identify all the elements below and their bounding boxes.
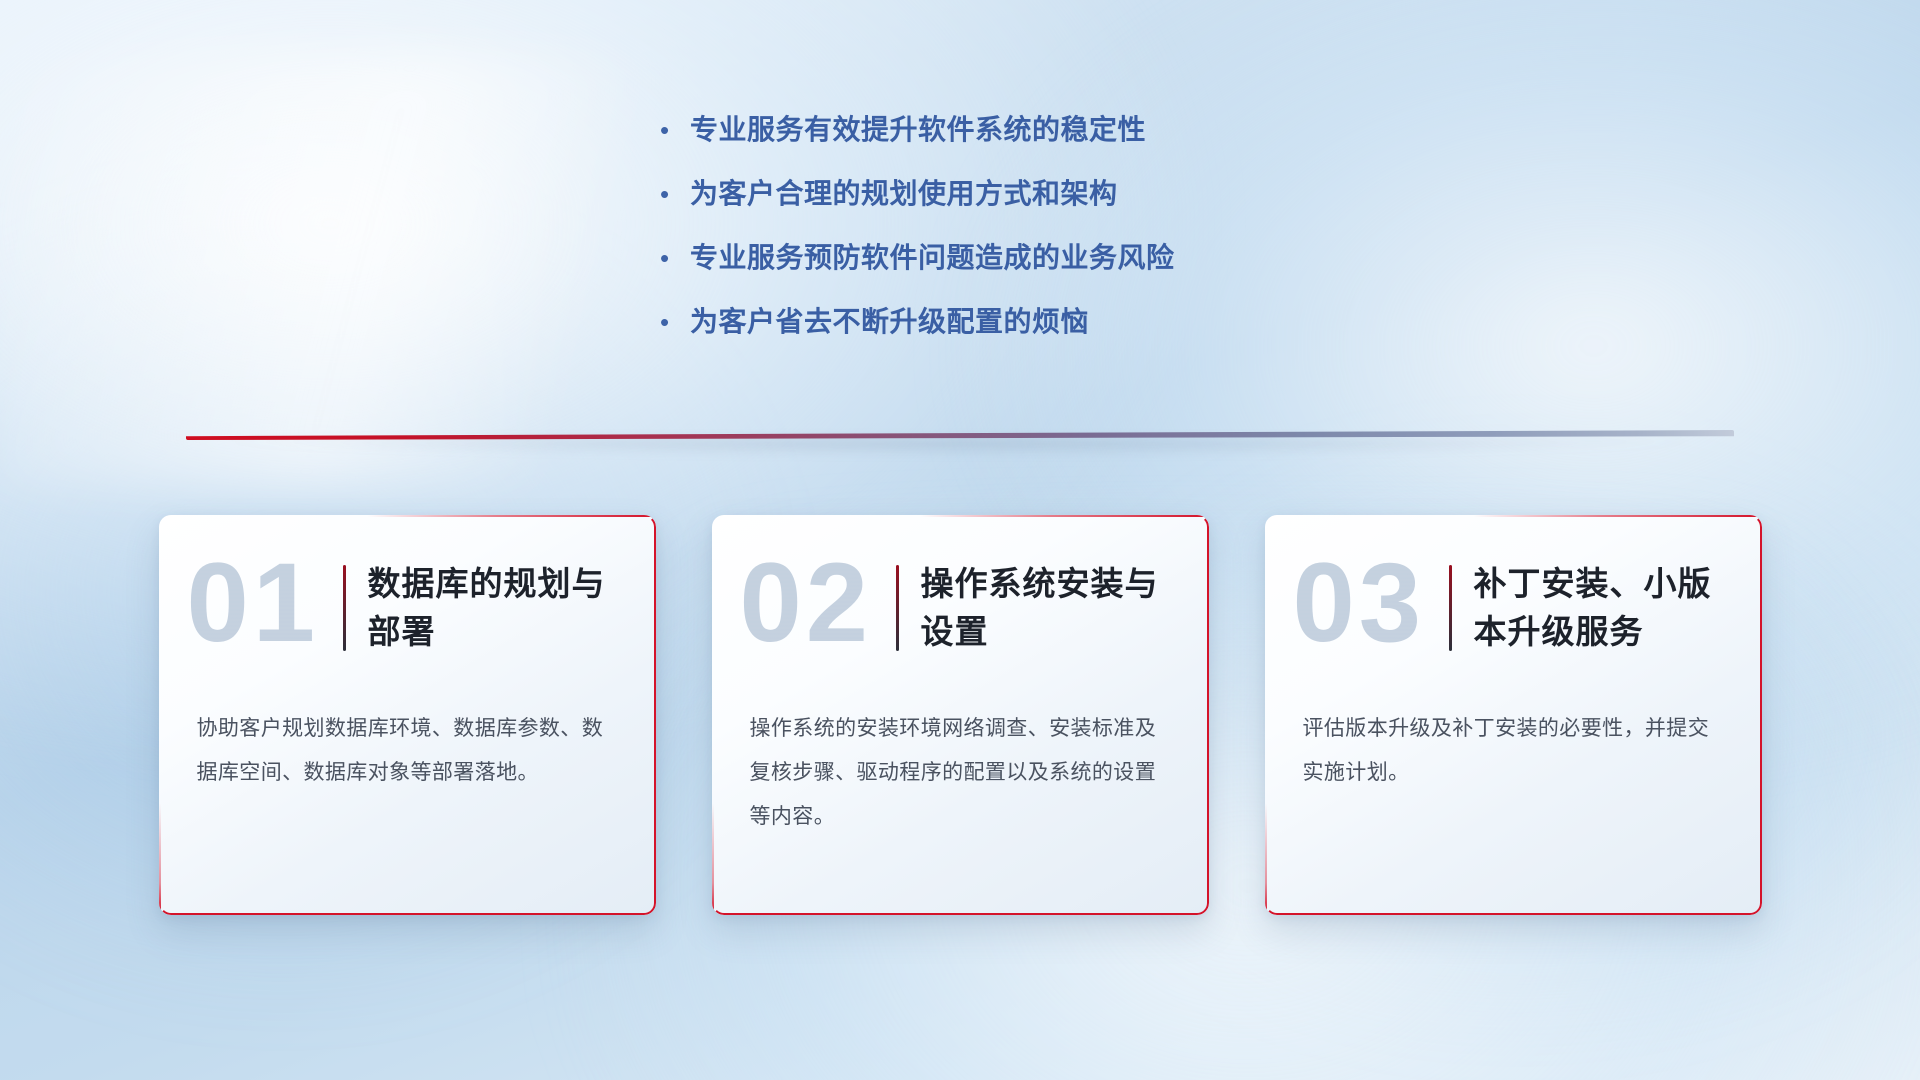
section-divider	[186, 430, 1734, 440]
card-description: 协助客户规划数据库环境、数据库参数、数据库空间、数据库对象等部署落地。	[159, 701, 656, 795]
bullet-text: 为客户省去不断升级配置的烦恼	[690, 302, 1089, 342]
card-description: 评估版本升级及补丁安装的必要性，并提交实施计划。	[1265, 701, 1762, 795]
benefits-bullet-list: • 专业服务有效提升软件系统的稳定性 • 为客户合理的规划使用方式和架构 • 专…	[660, 110, 1420, 366]
bullet-text: 为客户合理的规划使用方式和架构	[690, 174, 1118, 214]
card-header: 01 数据库的规划与部署	[159, 515, 656, 701]
card-title: 数据库的规划与部署	[368, 560, 626, 656]
service-card[interactable]: 01 数据库的规划与部署 协助客户规划数据库环境、数据库参数、数据库空间、数据库…	[159, 515, 656, 915]
service-card[interactable]: 03 补丁安装、小版本升级服务 评估版本升级及补丁安装的必要性，并提交实施计划。	[1265, 515, 1762, 915]
bullet-dot-icon: •	[660, 174, 690, 214]
title-divider-bar	[343, 565, 346, 651]
card-title-group: 数据库的规划与部署	[343, 560, 626, 656]
bullet-dot-icon: •	[660, 302, 690, 342]
card-title-group: 补丁安装、小版本升级服务	[1449, 560, 1732, 656]
list-item: • 专业服务预防软件问题造成的业务风险	[660, 238, 1420, 302]
card-description: 操作系统的安装环境网络调查、安装标准及复核步骤、驱动程序的配置以及系统的设置等内…	[712, 701, 1209, 839]
card-number: 01	[187, 547, 320, 659]
list-item: • 为客户省去不断升级配置的烦恼	[660, 302, 1420, 366]
bullet-text: 专业服务预防软件问题造成的业务风险	[690, 238, 1175, 278]
bullet-text: 专业服务有效提升软件系统的稳定性	[690, 110, 1146, 150]
title-divider-bar	[896, 565, 899, 651]
card-title: 补丁安装、小版本升级服务	[1474, 560, 1732, 656]
bullet-dot-icon: •	[660, 238, 690, 278]
list-item: • 为客户合理的规划使用方式和架构	[660, 174, 1420, 238]
card-number: 03	[1293, 547, 1426, 659]
service-card[interactable]: 02 操作系统安装与设置 操作系统的安装环境网络调查、安装标准及复核步骤、驱动程…	[712, 515, 1209, 915]
card-header: 03 补丁安装、小版本升级服务	[1265, 515, 1762, 701]
title-divider-bar	[1449, 565, 1452, 651]
card-header: 02 操作系统安装与设置	[712, 515, 1209, 701]
list-item: • 专业服务有效提升软件系统的稳定性	[660, 110, 1420, 174]
card-title-group: 操作系统安装与设置	[896, 560, 1179, 656]
card-title: 操作系统安装与设置	[921, 560, 1179, 656]
card-number: 02	[740, 547, 873, 659]
bullet-dot-icon: •	[660, 110, 690, 150]
divider-shadow	[217, 439, 1703, 455]
service-cards: 01 数据库的规划与部署 协助客户规划数据库环境、数据库参数、数据库空间、数据库…	[0, 515, 1920, 915]
